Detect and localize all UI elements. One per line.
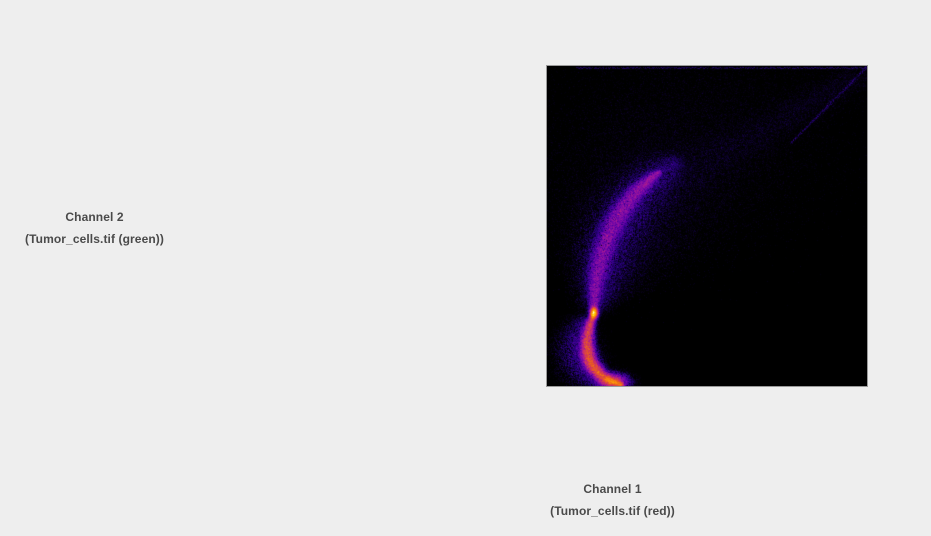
scatter-plot-canvas[interactable] xyxy=(547,66,867,386)
scatter-plot-frame xyxy=(546,65,868,387)
x-axis-label: Channel 1 (Tumor_cells.tif (red)) xyxy=(518,478,707,522)
x-axis-title: Channel 1 xyxy=(518,478,707,500)
y-axis-source: (Tumor_cells.tif (green)) xyxy=(0,228,189,250)
x-axis-source: (Tumor_cells.tif (red)) xyxy=(518,500,707,522)
y-axis-title: Channel 2 xyxy=(0,206,189,228)
y-axis-label: Channel 2 (Tumor_cells.tif (green)) xyxy=(0,206,189,250)
colocalization-window: Channel 2 (Tumor_cells.tif (green)) Chan… xyxy=(0,0,931,536)
